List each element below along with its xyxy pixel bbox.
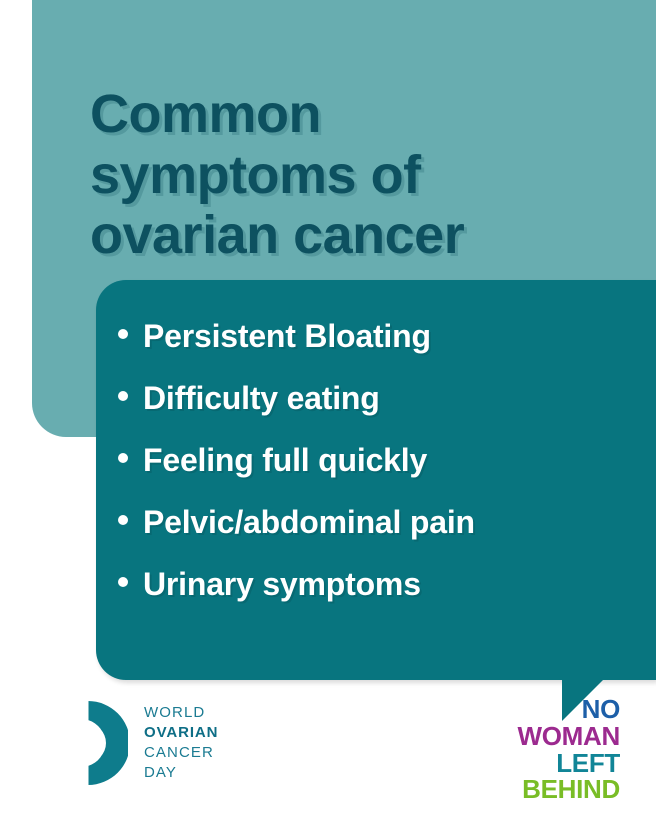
wocd-word-cancer: CANCER [144, 743, 218, 763]
poster-canvas: Common symptoms of ovarian cancer Persis… [0, 0, 656, 819]
symptom-label: Difficulty eating [143, 380, 380, 417]
list-item: Pelvic/abdominal pain [118, 504, 648, 541]
bullet-dot-icon [118, 515, 128, 525]
campaign-line-no: NO [518, 696, 620, 723]
bullet-dot-icon [118, 453, 128, 463]
campaign-line-woman: WOMAN [518, 723, 620, 750]
bullet-dot-icon [118, 391, 128, 401]
list-item: Feeling full quickly [118, 442, 648, 479]
wocd-ring-icon [44, 698, 128, 788]
list-item: Urinary symptoms [118, 566, 648, 603]
symptom-label: Urinary symptoms [143, 566, 421, 603]
wocd-word-world: WORLD [144, 703, 218, 723]
bullet-dot-icon [118, 329, 128, 339]
campaign-line-behind: BEHIND [518, 776, 620, 803]
list-item: Difficulty eating [118, 380, 648, 417]
campaign-line-left: LEFT [518, 750, 620, 777]
headline-line-3: ovarian cancer [90, 205, 635, 265]
wocd-wordmark: WORLD OVARIAN CANCER DAY [144, 703, 218, 784]
headline-line-1: Common [90, 84, 635, 144]
symptom-label: Pelvic/abdominal pain [143, 504, 475, 541]
list-item: Persistent Bloating [118, 318, 648, 355]
footer: WORLD OVARIAN CANCER DAY NO WOMAN LEFT B… [0, 690, 656, 819]
wocd-word-day: DAY [144, 763, 218, 783]
headline-line-2: symptoms of [90, 145, 635, 205]
campaign-badge: NO WOMAN LEFT BEHIND [518, 696, 620, 803]
bullet-dot-icon [118, 577, 128, 587]
symptom-label: Persistent Bloating [143, 318, 431, 355]
symptom-list: Persistent Bloating Difficulty eating Fe… [118, 318, 648, 603]
wocd-word-ovarian: OVARIAN [144, 723, 218, 743]
symptom-label: Feeling full quickly [143, 442, 427, 479]
page-title: Common symptoms of ovarian cancer [90, 84, 635, 265]
world-ovarian-cancer-day-logo: WORLD OVARIAN CANCER DAY [44, 698, 218, 788]
